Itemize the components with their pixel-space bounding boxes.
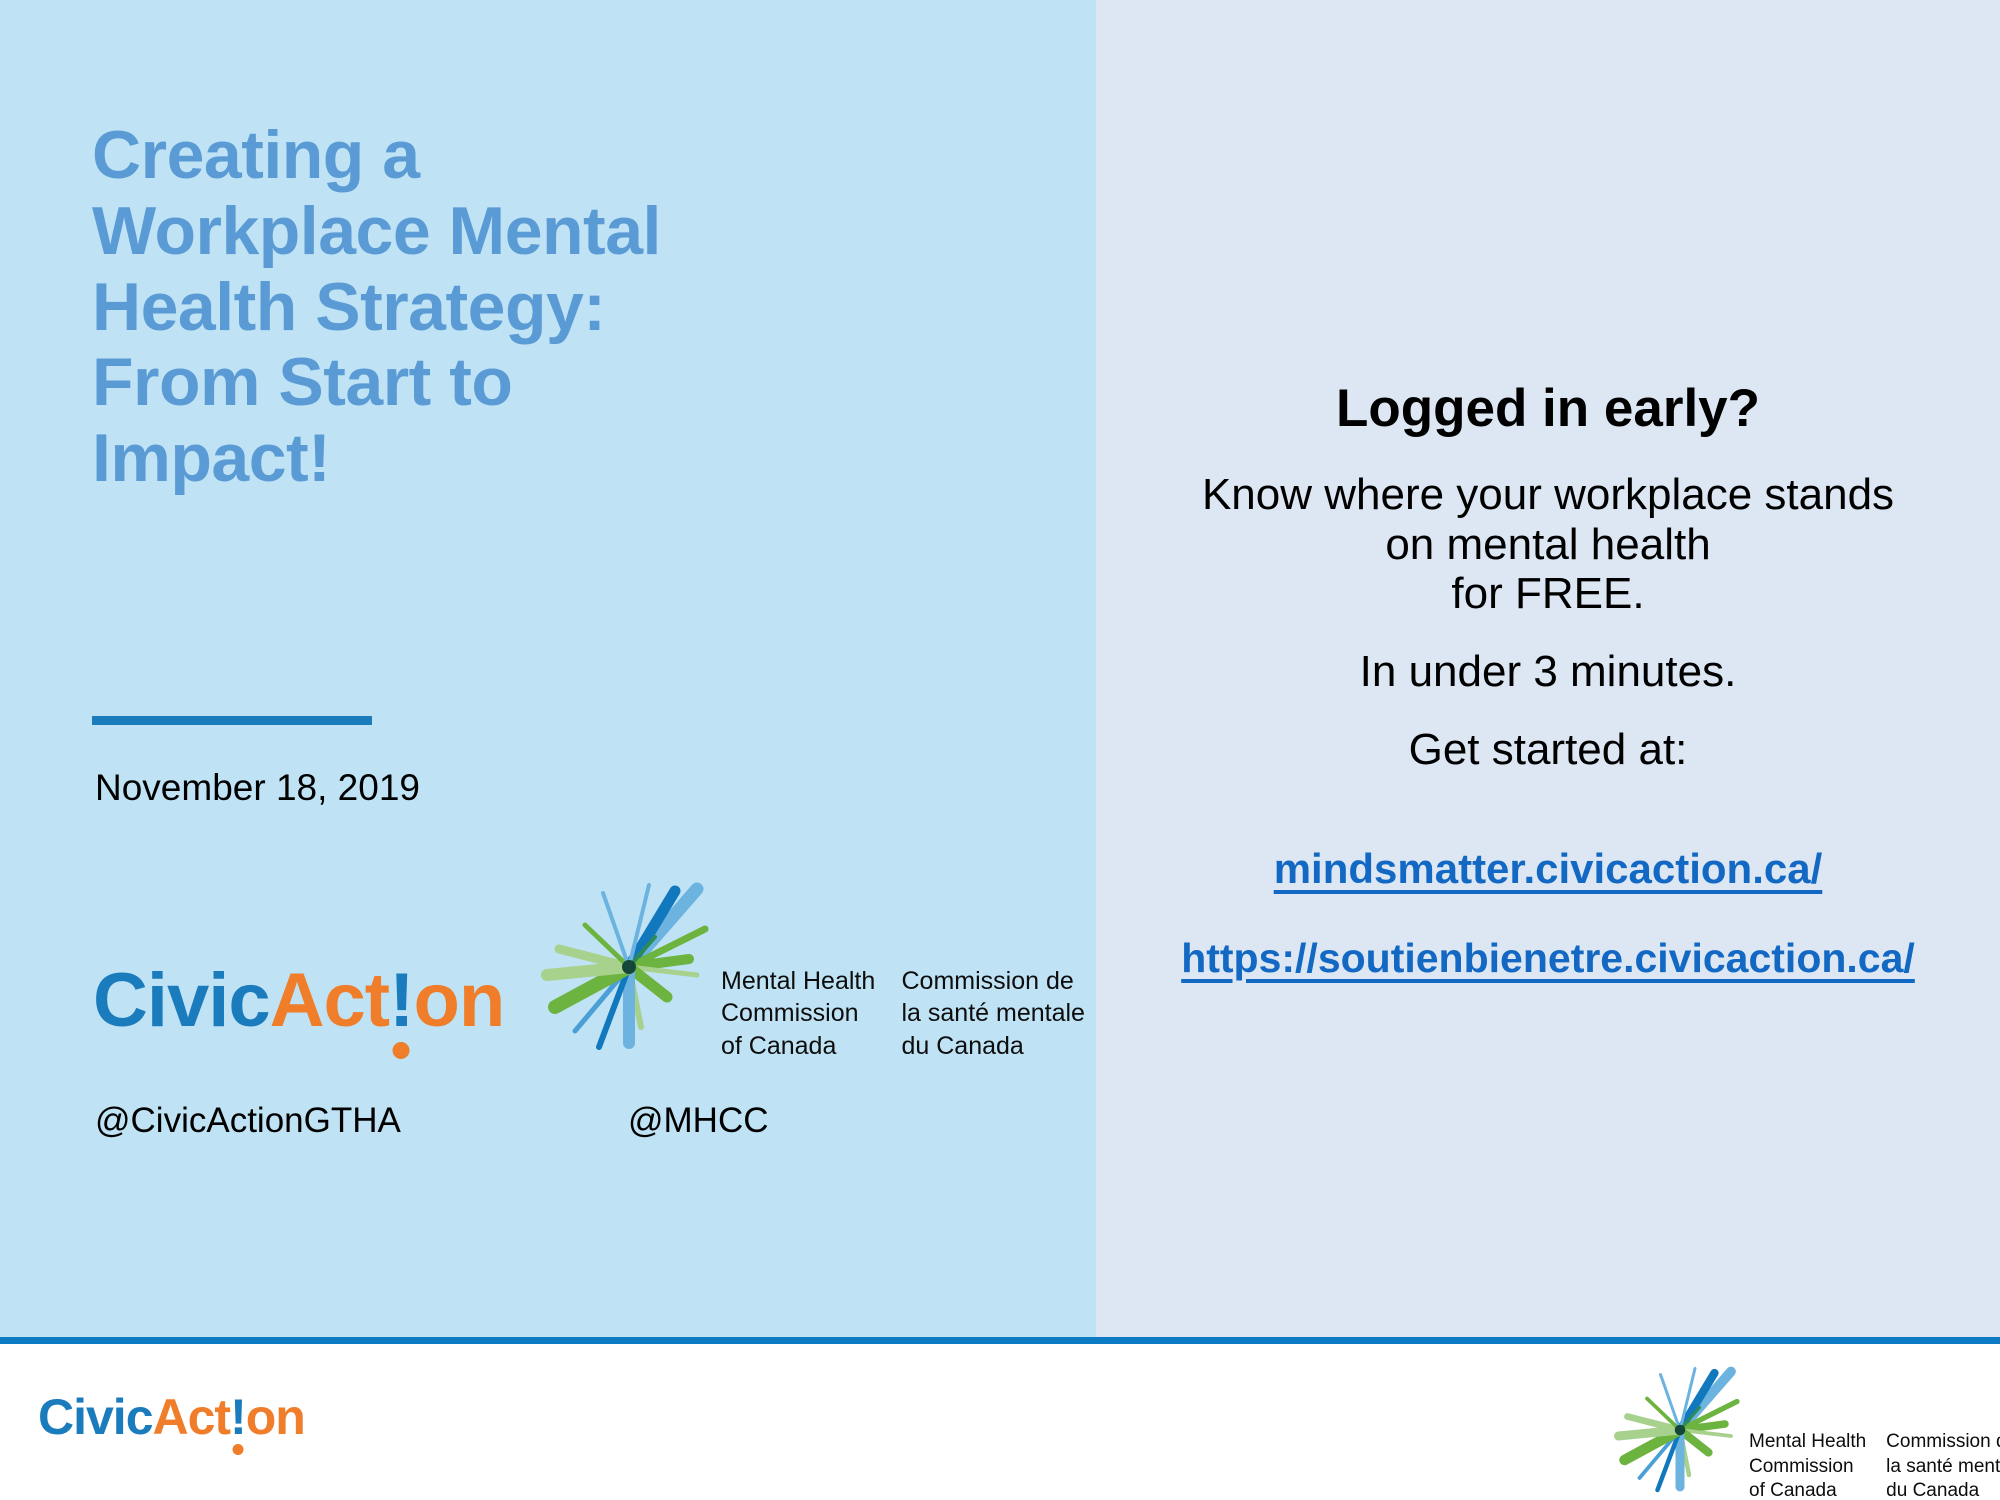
title-divider-rule <box>92 716 372 725</box>
footer-mhcc-fr-line-3: du Canada <box>1886 1479 2000 1500</box>
footer-mhcc-en-line-3: of Canada <box>1749 1479 1866 1500</box>
civicaction-social-handle: @CivicActionGTHA <box>95 1103 401 1138</box>
footer-mhcc-fr-line-1: Commission de <box>1886 1430 2000 1455</box>
title-line-3: Health Strategy: <box>92 270 952 346</box>
title-line-4: From Start to <box>92 345 952 421</box>
presentation-slide: Creating a Workplace Mental Health Strat… <box>0 0 2000 1500</box>
right-panel-body-line-2: on mental health <box>1096 520 2000 570</box>
mhcc-logo: Mental Health Commission of Canada Commi… <box>529 867 1085 1072</box>
right-panel-heading: Logged in early? <box>1096 382 2000 435</box>
footer-civicaction-i-dot-icon <box>232 1444 243 1455</box>
mhcc-social-handle: @MHCC <box>628 1103 769 1138</box>
title-line-1: Creating a <box>92 118 952 194</box>
civicaction-logo-exclamation-i-icon: ! <box>389 963 413 1039</box>
footer-mhcc-wordmark-english: Mental Health Commission of Canada <box>1749 1430 1866 1500</box>
civicaction-logo-i-stroke: ! <box>389 958 413 1043</box>
soutienbienetre-link[interactable]: https://soutienbienetre.civicaction.ca/ <box>1096 938 2000 979</box>
right-panel-body-line-5: Get started at: <box>1096 725 2000 775</box>
footer-mhcc-fr-line-2: la santé mentale <box>1886 1455 2000 1480</box>
civicaction-logo-on-text: on <box>413 958 504 1043</box>
mhcc-wordmark-english: Mental Health Commission of Canada <box>721 965 875 1063</box>
mhcc-fr-line-3: du Canada <box>902 1030 1085 1063</box>
mindsmatter-link[interactable]: mindsmatter.civicaction.ca/ <box>1096 848 2000 890</box>
footer-mhcc-en-line-2: Commission <box>1749 1455 1866 1480</box>
footer-mhcc-wordmark-french: Commission de la santé mentale du Canada <box>1886 1430 2000 1500</box>
slide-date: November 18, 2019 <box>95 769 420 806</box>
civicaction-logo-civic-text: Civic <box>93 958 270 1043</box>
footer-mhcc-en-line-1: Mental Health <box>1749 1430 1866 1455</box>
footer-mhcc-wordmark: Mental Health Commission of Canada Commi… <box>1749 1430 2000 1500</box>
mhcc-wordmark-french: Commission de la santé mentale du Canada <box>902 965 1085 1063</box>
mhcc-starburst-icon <box>529 867 729 1072</box>
mhcc-fr-line-2: la santé mentale <box>902 997 1085 1030</box>
right-panel-body-line-3: for FREE. <box>1096 569 2000 619</box>
footer-civicaction-on-text: on <box>246 1389 305 1445</box>
footer-civicaction-exclamation-i-icon: ! <box>230 1392 246 1442</box>
footer-mhcc-logo: Mental Health Commission of Canada Commi… <box>1605 1355 2000 1500</box>
civicaction-logo-i-dot-icon <box>393 1042 410 1059</box>
footer-civicaction-i-stroke: ! <box>230 1389 246 1445</box>
footer-civicaction-logo: CivicAct!on <box>38 1392 305 1442</box>
civicaction-logo-act-text: Act <box>270 958 389 1043</box>
mhcc-en-line-3: of Canada <box>721 1030 875 1063</box>
footer-civicaction-act-text: Act <box>153 1389 231 1445</box>
title-line-5: Impact! <box>92 421 952 497</box>
mhcc-fr-line-1: Commission de <box>902 965 1085 998</box>
footer-mhcc-starburst-icon <box>1605 1355 1755 1500</box>
mhcc-en-line-1: Mental Health <box>721 965 875 998</box>
title-line-2: Workplace Mental <box>92 194 952 270</box>
civicaction-logo: CivicAct!on <box>93 963 504 1039</box>
slide-title: Creating a Workplace Mental Health Strat… <box>92 118 952 497</box>
mhcc-logo-wordmark: Mental Health Commission of Canada Commi… <box>721 965 1085 1073</box>
right-panel-body: Know where your workplace stands on ment… <box>1096 470 2000 775</box>
mhcc-en-line-2: Commission <box>721 997 875 1030</box>
footer-divider-rule <box>0 1337 2000 1344</box>
right-panel-body-line-1: Know where your workplace stands <box>1096 470 2000 520</box>
right-panel-body-line-4: In under 3 minutes. <box>1096 647 2000 697</box>
footer-civicaction-civic-text: Civic <box>38 1389 153 1445</box>
